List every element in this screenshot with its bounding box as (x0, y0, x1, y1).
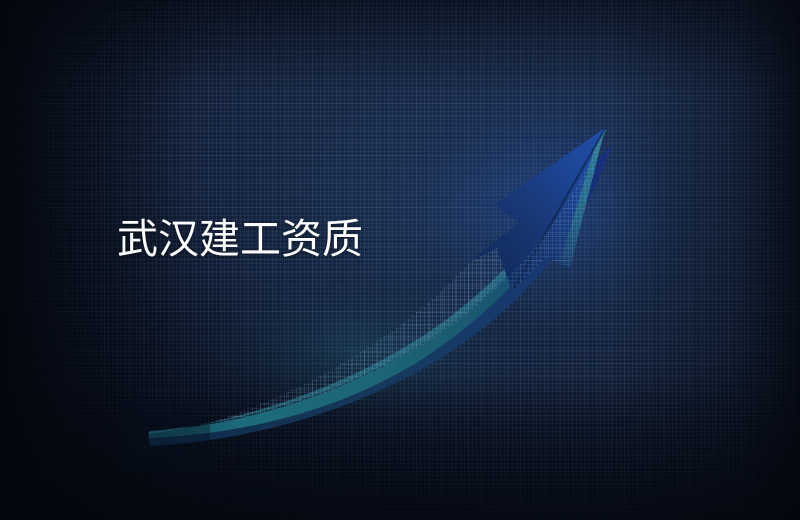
banner-canvas: 武汉建工资质 (0, 0, 800, 520)
page-title: 武汉建工资质 (117, 218, 363, 261)
